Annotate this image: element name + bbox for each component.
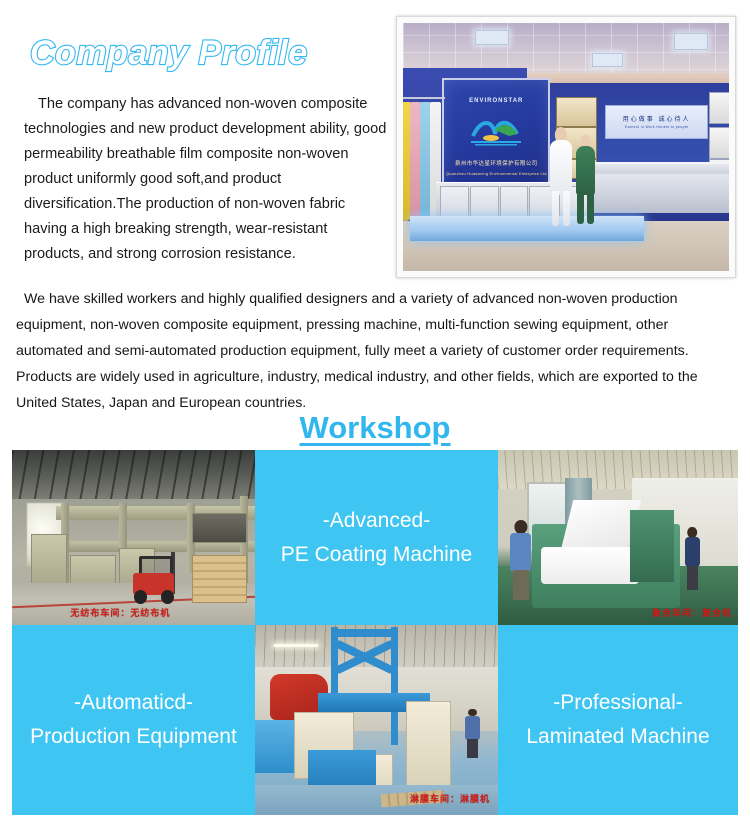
logo-company-name-en: Quanzhou Huadaxing Environmental Enterpr…	[446, 171, 547, 176]
nonwoven-machine-1	[31, 534, 67, 589]
production-equipment-panel: -Automaticd- Production Equipment	[12, 625, 255, 815]
mannequin-coverall-white	[546, 127, 575, 226]
photo-caption-nonwoven: 无纺布车间：无纺布机	[70, 606, 170, 619]
roof-beams	[12, 450, 255, 499]
ceiling-light-1	[475, 30, 510, 44]
wall-slogan-en: Earnest in Work Honest to people	[625, 125, 688, 129]
panel-line-2: Laminated Machine	[526, 720, 709, 754]
showroom-counter	[589, 162, 729, 214]
wall-poster-2	[709, 127, 729, 159]
mannequin-legs	[552, 191, 571, 227]
wave-bird-logo-icon	[469, 114, 523, 146]
panel-line-1: -Advanced-	[323, 504, 430, 538]
showroom-photo: ENVIRONSTAR 泉州市华达星环境保护有限公司 Quanzhou Huad…	[403, 23, 729, 271]
wall-slogan-board: 用心做事 诚心待人 Earnest in Work Honest to peop…	[605, 105, 708, 139]
nonwoven-workshop-photo: 无纺布车间：无纺布机	[12, 450, 255, 625]
workshop-cell-composite: 复合车间：复合机	[498, 450, 738, 625]
fabric-roll	[541, 547, 639, 584]
display-platform	[410, 216, 645, 241]
mannequin-coverall	[550, 140, 572, 195]
tower-brace-top	[334, 629, 395, 637]
page-title: Company Profile	[30, 34, 308, 73]
photo-caption-composite: 复合车间：复合机	[652, 606, 732, 619]
ceiling-light-3	[674, 33, 709, 50]
laminating-workshop-photo: 淋膜车间：淋膜机	[255, 625, 498, 815]
certificate-frame-1	[556, 97, 597, 126]
fluorescent-tube-light	[274, 644, 318, 647]
photo-caption-laminating: 淋膜车间：淋膜机	[410, 792, 490, 805]
company-logo-board: ENVIRONSTAR 泉州市华达星环境保护有限公司 Quanzhou Huad…	[442, 78, 550, 196]
forklift-wheel-rear	[134, 590, 147, 604]
worker-trousers	[467, 739, 478, 758]
worker-trousers	[687, 566, 699, 590]
panel-line-1: -Automaticd-	[74, 686, 193, 720]
mannequin-scrubs-green	[573, 135, 599, 224]
mannequin-legs	[577, 192, 594, 224]
worker-trousers	[513, 570, 529, 601]
worker	[464, 709, 481, 758]
mannequin-leg-right	[563, 191, 571, 227]
material-pallet-stack	[192, 555, 247, 603]
panel-line-2: Production Equipment	[30, 720, 237, 754]
workshop-cell-laminating: 淋膜车间：淋膜机	[255, 625, 498, 815]
company-profile-page: Company Profile The company has advanced…	[0, 0, 750, 822]
ceiling-light-2	[592, 53, 623, 67]
laminated-machine-panel: -Professional- Laminated Machine	[498, 625, 738, 815]
mannequin-leg-left	[577, 192, 584, 224]
worker-shirt	[685, 537, 700, 567]
control-cabinet-right	[406, 701, 452, 790]
factory-roof	[12, 450, 255, 499]
pe-coating-machine-panel: -Advanced- PE Coating Machine	[255, 450, 498, 625]
machine-right-column	[630, 510, 675, 582]
composite-machine	[532, 524, 681, 608]
mannequin-leg-left	[552, 191, 560, 227]
mannequin-scrub-top	[576, 146, 596, 195]
wall-slogan-cn: 用心做事 诚心待人	[623, 114, 691, 123]
garment-rail	[403, 97, 445, 99]
forklift-wheel-front	[161, 590, 174, 604]
nonwoven-machine-4	[192, 513, 247, 543]
worker-shirt	[510, 533, 531, 572]
panel-line-1: -Professional-	[553, 686, 683, 720]
showroom-photo-frame: ENVIRONSTAR 泉州市华达星环境保护有限公司 Quanzhou Huad…	[396, 16, 736, 278]
company-intro-paragraph: The company has advanced non-woven compo…	[24, 92, 389, 267]
logo-company-name-cn: 泉州市华达星环境保护有限公司	[455, 159, 538, 167]
mannequin-leg-right	[587, 192, 594, 224]
worker-left	[508, 520, 534, 601]
capabilities-paragraph: We have skilled workers and highly quali…	[16, 286, 738, 416]
workshop-cell-nonwoven: 无纺布车间：无纺布机	[12, 450, 255, 625]
composite-workshop-photo: 复合车间：复合机	[498, 450, 738, 625]
panel-line-2: PE Coating Machine	[281, 538, 472, 572]
logo-arc-text: ENVIRONSTAR	[469, 98, 523, 104]
workshop-heading: Workshop	[0, 410, 750, 446]
forklift	[129, 552, 187, 605]
wall-poster-1	[709, 92, 729, 124]
worker-right	[683, 527, 702, 590]
worker-shirt	[465, 716, 480, 741]
workshop-grid: 无纺布车间：无纺布机 -Advanced- PE Coating Machine	[12, 450, 738, 815]
